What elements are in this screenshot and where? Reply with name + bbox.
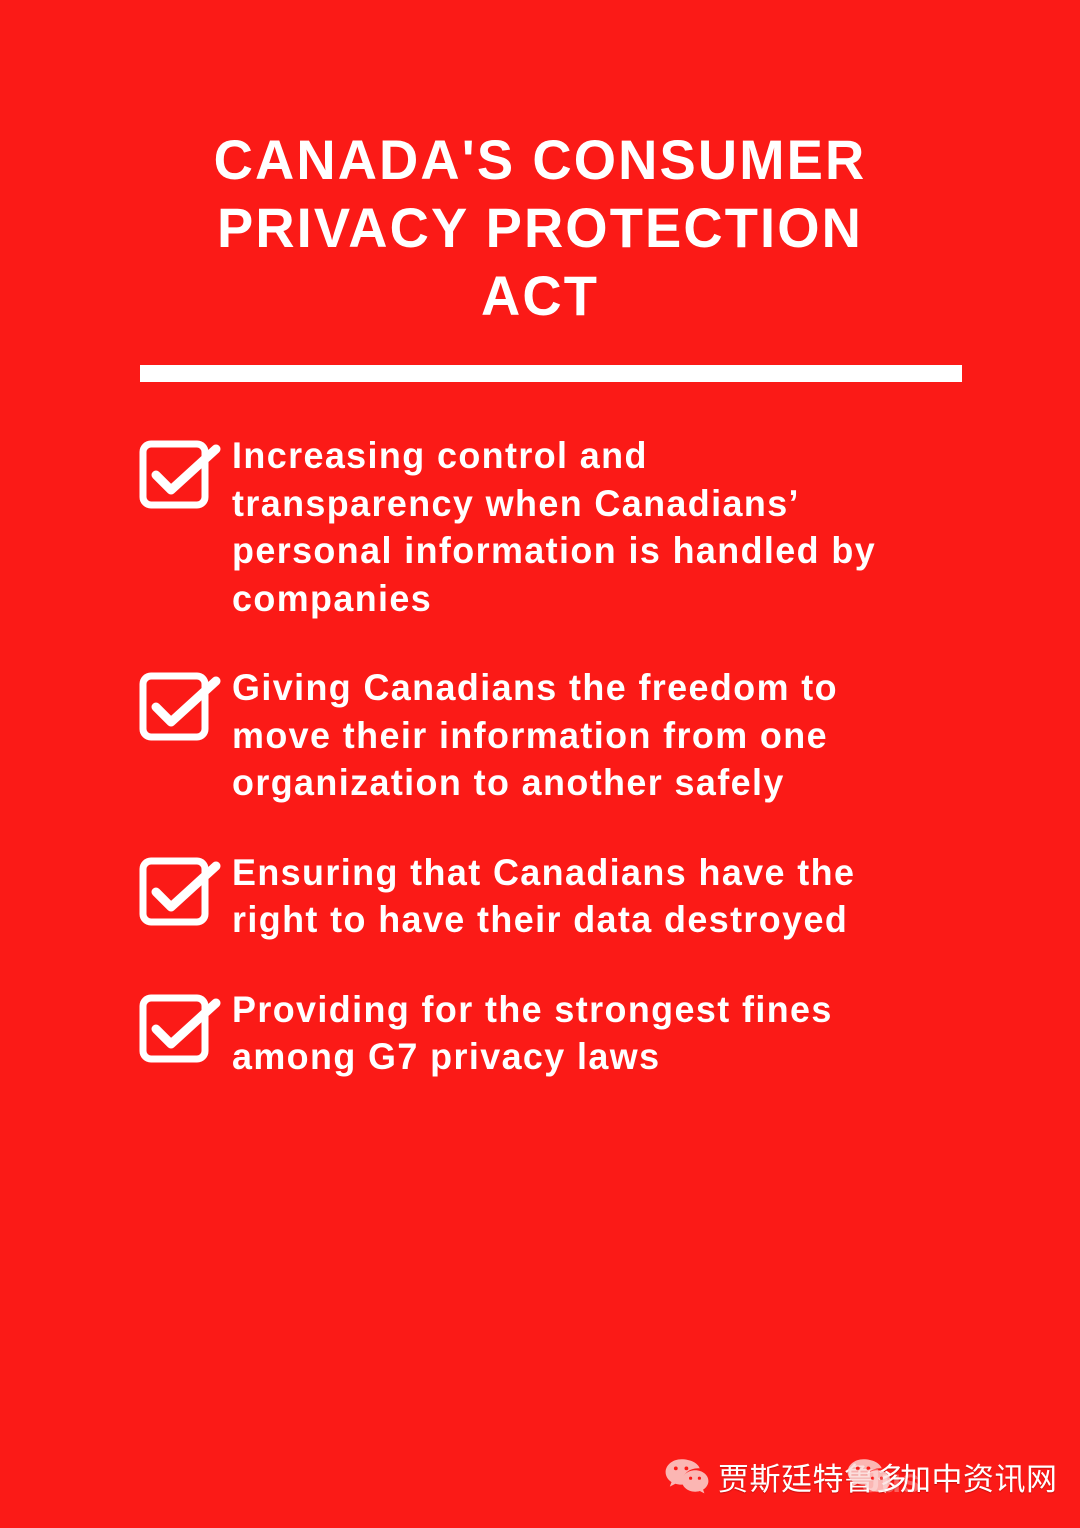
watermark-label: 加中资讯网 — [900, 1454, 1058, 1499]
list-item-label: Providing for the strongest fines among … — [232, 986, 901, 1081]
checkbox-checked-icon — [138, 992, 222, 1064]
checkbox-checked-icon — [138, 670, 222, 742]
list-item: Ensuring that Canadians have the right t… — [138, 849, 958, 944]
page-title: CANADA'S CONSUMER PRIVACY PROTECTION ACT — [152, 126, 928, 330]
bullet-list: Increasing control and transparency when… — [138, 432, 958, 1081]
checkbox-checked-icon — [138, 438, 222, 510]
title-block: CANADA'S CONSUMER PRIVACY PROTECTION ACT — [140, 126, 940, 330]
footer-watermark-bar: 贾斯廷特鲁多 加中资讯网 Jus — [0, 1432, 1080, 1528]
list-item: Increasing control and transparency when… — [138, 432, 958, 622]
wechat-logo-icon — [846, 1457, 892, 1497]
checkbox-checked-icon — [138, 855, 222, 927]
list-item: Providing for the strongest fines among … — [138, 986, 958, 1081]
list-item-label: Increasing control and transparency when… — [232, 432, 901, 622]
list-item-label: Giving Canadians the freedom to move the… — [232, 664, 901, 807]
list-item: Giving Canadians the freedom to move the… — [138, 664, 958, 807]
poster-canvas: CANADA'S CONSUMER PRIVACY PROTECTION ACT… — [0, 0, 1080, 1528]
watermark-account-jiazhong: 加中资讯网 — [846, 1454, 1058, 1499]
wechat-logo-icon — [664, 1457, 710, 1497]
divider — [140, 365, 962, 382]
list-item-label: Ensuring that Canadians have the right t… — [232, 849, 901, 944]
